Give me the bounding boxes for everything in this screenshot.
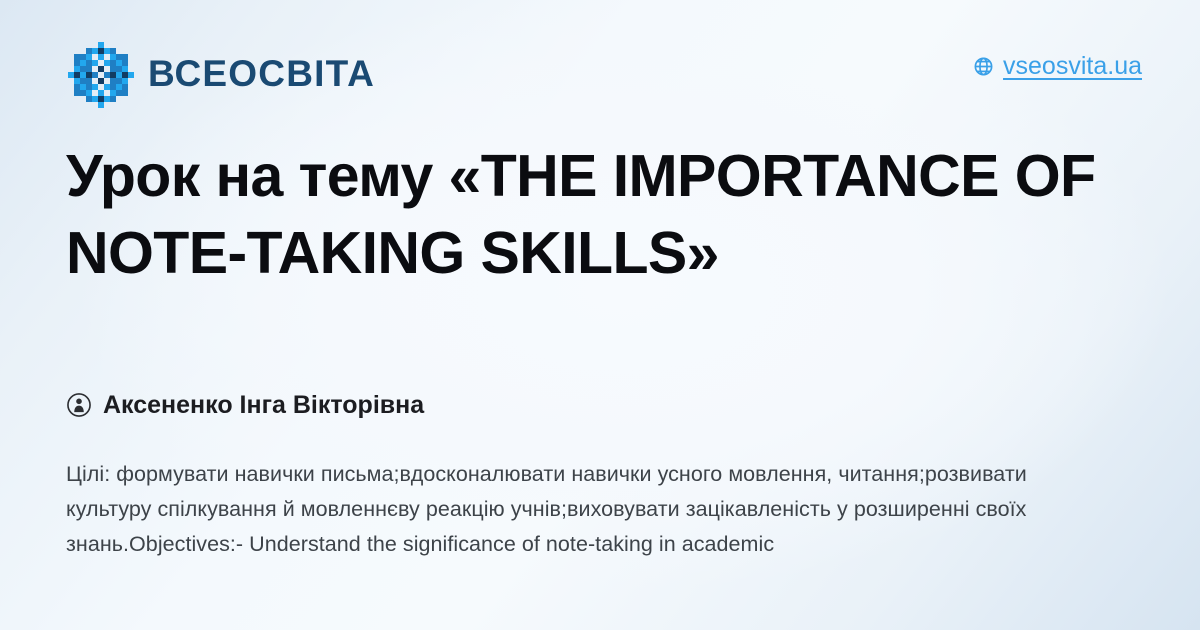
description-text: Цілі: формувати навички письма;вдосконал… bbox=[66, 457, 1086, 562]
brand-logo[interactable]: ВСЕОСВІТА bbox=[68, 42, 375, 108]
user-circle-icon bbox=[66, 392, 92, 418]
card-header: ВСЕОСВІТА vseosvita.ua bbox=[68, 42, 1142, 104]
share-card: ВСЕОСВІТА vseosvita.ua Урок на тему «THE… bbox=[0, 0, 1200, 630]
pixel-snowflake-ornament-icon bbox=[68, 42, 134, 108]
author-row: Аксененко Інга Вікторівна bbox=[66, 392, 424, 418]
site-url-label: vseosvita.ua bbox=[1003, 54, 1142, 79]
globe-icon bbox=[973, 56, 994, 77]
page-title: Урок на тему «THE IMPORTANCE OF NOTE-TAK… bbox=[66, 138, 1151, 291]
site-url-link[interactable]: vseosvita.ua bbox=[973, 54, 1142, 79]
author-name: Аксененко Інга Вікторівна bbox=[103, 393, 424, 418]
brand-wordmark: ВСЕОСВІТА bbox=[148, 55, 375, 95]
